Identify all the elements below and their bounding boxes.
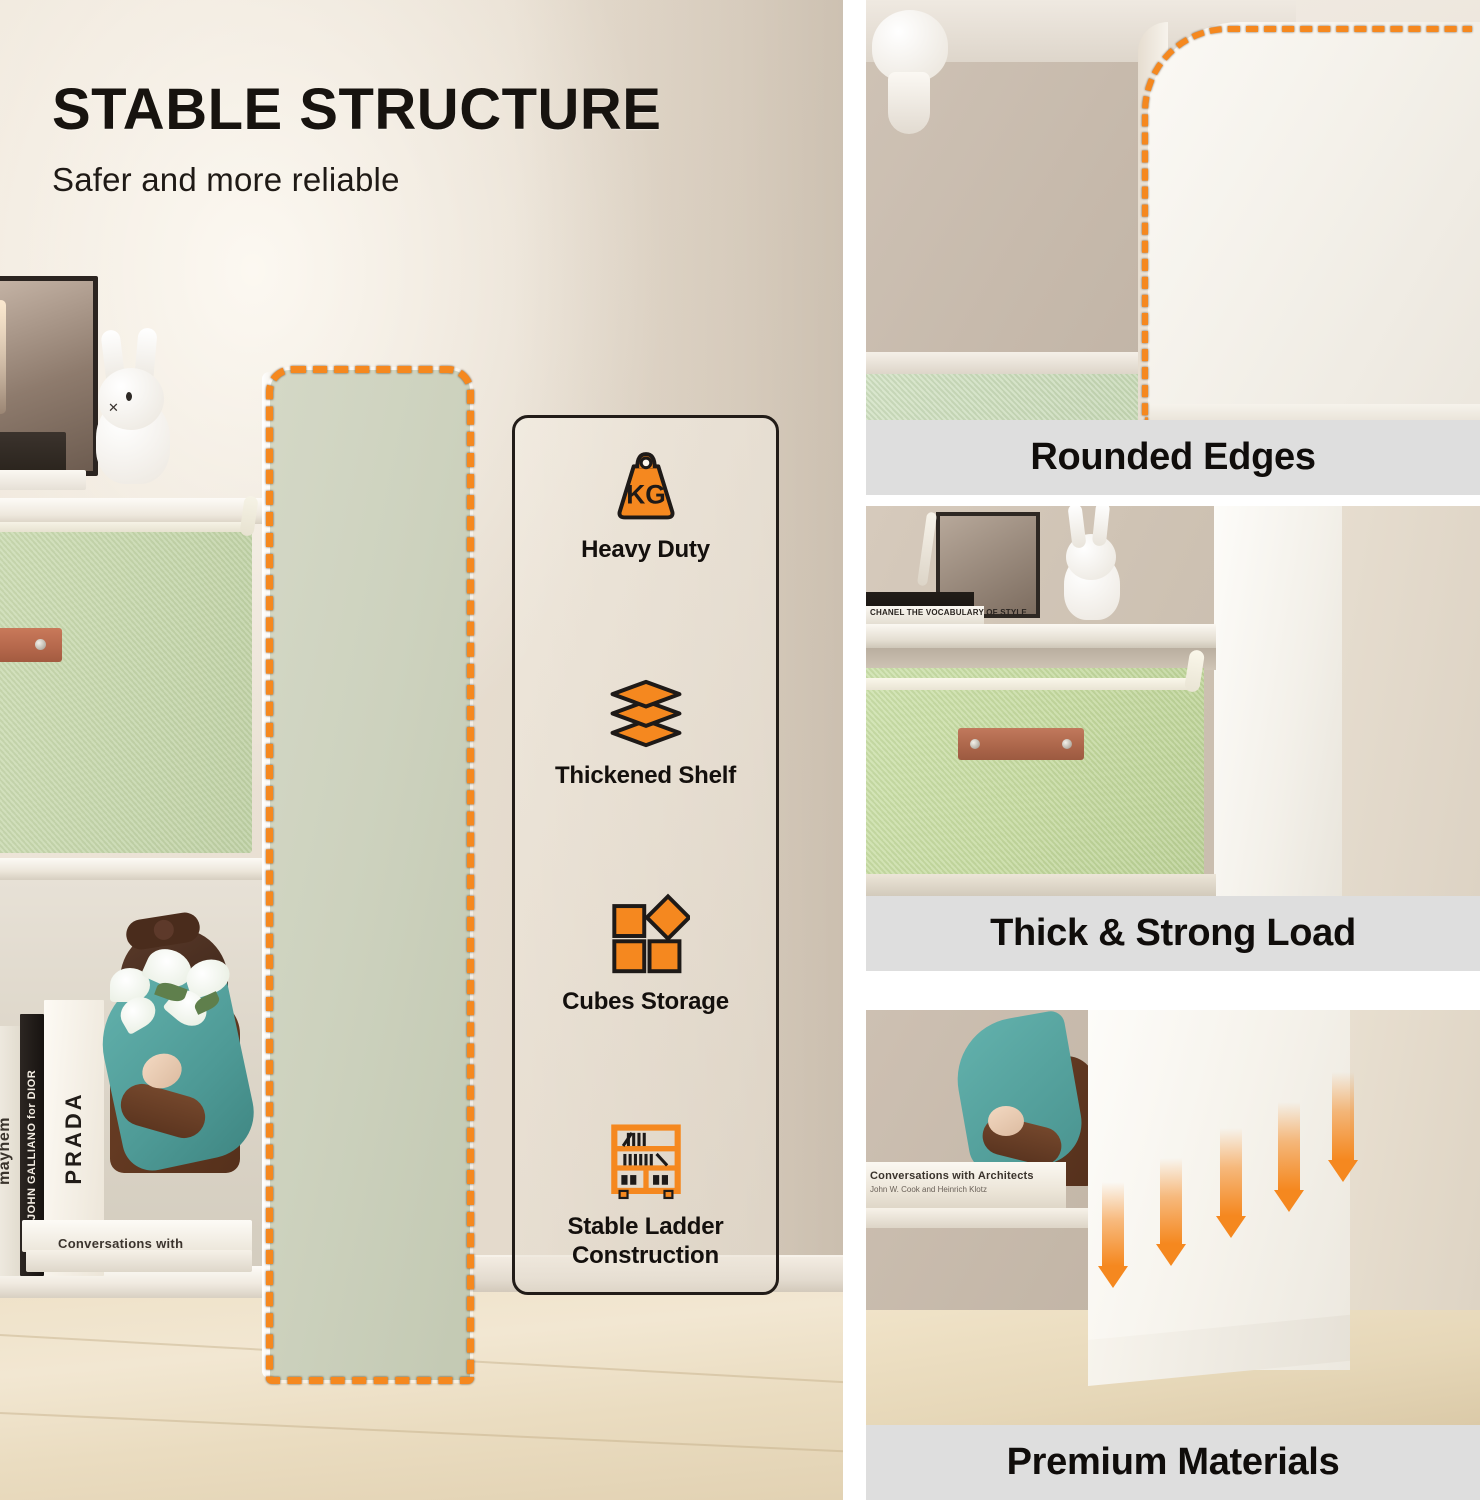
desk-papers	[0, 470, 86, 490]
card-caption: Thick & Strong Load	[866, 896, 1480, 971]
bottom-shelf-board	[866, 874, 1216, 896]
card-caption-text: Thick & Strong Load	[990, 912, 1356, 955]
flat-book-title: Conversations with Architects	[870, 1170, 1034, 1182]
premium-materials-photo: Conversations with Architects John W. Co…	[866, 1010, 1480, 1425]
feature-label: Thickened Shelf	[555, 762, 736, 790]
bin-leather-handle	[0, 628, 62, 662]
lamp-stem	[888, 72, 930, 134]
bunny-nose-icon: ✕	[108, 400, 122, 410]
detail-card-rounded-edges: Rounded Edges	[866, 0, 1480, 495]
orange-dashed-highlight	[266, 366, 474, 1384]
green-storage-bin	[866, 668, 1204, 896]
bunny-eye	[126, 392, 132, 401]
card-caption-text: Rounded Edges	[1030, 436, 1315, 479]
flat-book-stack: Conversations with Architects John W. Co…	[22, 1220, 252, 1252]
page-subtitle: Safer and more reliable	[52, 161, 772, 199]
bin-flap	[866, 678, 1200, 690]
rounded-edges-photo	[866, 0, 1480, 420]
shelf-book-label: CHANEL THE VOCABULARY OF STYLE	[870, 608, 1027, 617]
photo-wall-right	[1342, 506, 1480, 896]
shelf-board	[866, 1208, 1098, 1228]
card-caption: Rounded Edges	[866, 420, 1480, 495]
card-caption-text: Premium Materials	[1007, 1441, 1340, 1484]
product-infographic: ✕ Sigrid Rausing mayhem JOHN GALLIANO fo…	[0, 0, 1480, 1500]
flat-book-second	[26, 1250, 252, 1272]
detail-card-thick-strong-load: CHANEL THE VOCABULARY OF STYLE Thick & S…	[866, 506, 1480, 971]
main-product-photo: ✕ Sigrid Rausing mayhem JOHN GALLIANO fo…	[0, 0, 843, 1500]
shelf-unit: Sigrid Rausing mayhem JOHN GALLIANO for …	[0, 498, 290, 1298]
detail-cards-column: Rounded Edges CHANEL THE VOCABULARY OF S…	[866, 0, 1480, 1500]
feature-label: Stable Ladder Construction	[567, 1213, 723, 1270]
cubes-icon	[602, 892, 690, 980]
kg-weight-icon: KG	[602, 440, 690, 528]
page-title: STABLE STRUCTURE	[52, 80, 772, 141]
thick-strong-load-photo: CHANEL THE VOCABULARY OF STYLE	[866, 506, 1480, 896]
cabinet-side-panel	[1214, 506, 1342, 896]
card-caption: Premium Materials	[866, 1425, 1480, 1500]
feature-label-line1: Stable Ladder	[567, 1213, 723, 1240]
kg-icon-text: KG	[626, 479, 666, 509]
book-spine: mayhem	[0, 1026, 20, 1276]
book-spine-label: PRADA	[61, 1091, 87, 1184]
middle-shelf-board	[0, 858, 290, 880]
feature-label: Cubes Storage	[562, 988, 729, 1016]
green-storage-bin	[0, 528, 252, 853]
detail-card-premium-materials: Conversations with Architects John W. Co…	[866, 1010, 1480, 1500]
figurine-hand	[988, 1106, 1024, 1136]
bin-leather-handle	[958, 728, 1084, 760]
load-arrow	[1216, 1128, 1246, 1238]
feature-list-panel: KG Heavy Duty Thickened Shelf	[512, 415, 779, 1295]
book-spine-label: mayhem	[0, 1117, 14, 1185]
bookshelf-icon	[602, 1117, 690, 1205]
feature-thickened-shelf: Thickened Shelf	[515, 660, 776, 796]
feature-heavy-duty: KG Heavy Duty	[515, 434, 776, 570]
load-arrow	[1328, 1072, 1358, 1182]
orange-dashed-corner-highlight	[1142, 26, 1472, 420]
headline-block: STABLE STRUCTURE Safer and more reliable	[52, 80, 772, 199]
load-arrow	[1098, 1182, 1128, 1288]
photo-wall-right	[1350, 1010, 1480, 1310]
book-spine-label: JOHN GALLIANO for DIOR	[26, 1070, 38, 1220]
top-shelf-board	[866, 624, 1216, 648]
shelf-board	[866, 352, 1166, 374]
bin-flap	[0, 522, 252, 532]
feature-label: Heavy Duty	[581, 536, 710, 564]
flat-book-author: John W. Cook and Heinrich Klotz	[870, 1185, 987, 1194]
layered-shelf-icon	[602, 666, 690, 754]
shelf-shadow-gap	[866, 648, 1216, 670]
feature-label-line2: Construction	[572, 1242, 719, 1269]
green-bin-edge	[866, 374, 1156, 420]
feature-stable-ladder: Stable Ladder Construction	[515, 1111, 776, 1292]
feature-cubes-storage: Cubes Storage	[515, 886, 776, 1022]
load-arrow	[1274, 1102, 1304, 1212]
load-arrow	[1156, 1158, 1186, 1266]
